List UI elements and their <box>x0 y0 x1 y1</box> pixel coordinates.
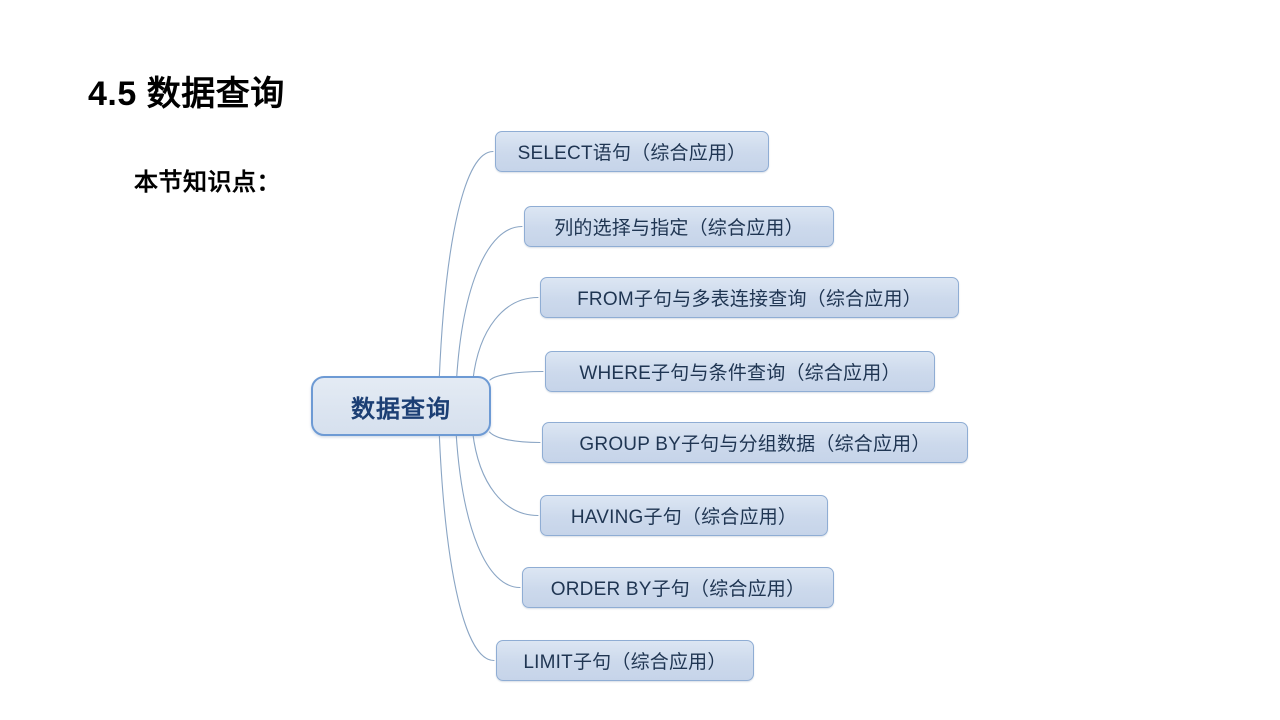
mindmap-branch-label: WHERE子句与条件查询（综合应用） <box>579 358 900 385</box>
mindmap-center-node[interactable]: 数据查询 <box>311 376 491 436</box>
mindmap-branch-node[interactable]: GROUP BY子句与分组数据（综合应用） <box>542 422 968 463</box>
mindmap-branch-node[interactable]: HAVING子句（综合应用） <box>540 495 828 536</box>
mindmap-branch-label: 列的选择与指定（综合应用） <box>554 213 804 240</box>
mindmap-connector <box>490 372 543 381</box>
mindmap-branch-label: FROM子句与多表连接查询（综合应用） <box>577 284 922 311</box>
mindmap-branch-node[interactable]: LIMIT子句（综合应用） <box>496 640 754 681</box>
slide-canvas: 4.5 数据查询 本节知识点： 数据查询 SELECT语句（综合应用）列的选择与… <box>0 0 1280 720</box>
mindmap-branch-node[interactable]: ORDER BY子句（综合应用） <box>522 567 834 608</box>
mindmap-branch-label: ORDER BY子句（综合应用） <box>551 574 805 601</box>
mindmap-connector <box>456 432 520 588</box>
mindmap-connector <box>473 298 538 381</box>
mindmap-connector <box>490 432 541 443</box>
mindmap-diagram: 数据查询 SELECT语句（综合应用）列的选择与指定（综合应用）FROM子句与多… <box>0 0 1280 720</box>
mindmap-branch-node[interactable]: 列的选择与指定（综合应用） <box>524 206 834 247</box>
mindmap-branch-node[interactable]: WHERE子句与条件查询（综合应用） <box>545 351 935 392</box>
mindmap-branch-label: HAVING子句（综合应用） <box>571 502 797 529</box>
mindmap-branch-label: GROUP BY子句与分组数据（综合应用） <box>579 429 930 456</box>
mindmap-branch-node[interactable]: SELECT语句（综合应用） <box>495 131 769 172</box>
mindmap-center-label: 数据查询 <box>351 389 451 424</box>
mindmap-branch-label: LIMIT子句（综合应用） <box>523 647 726 674</box>
mindmap-connector <box>473 432 538 516</box>
mindmap-connector <box>457 227 523 381</box>
mindmap-connector <box>439 432 494 661</box>
mindmap-branch-label: SELECT语句（综合应用） <box>518 138 747 165</box>
mindmap-branch-node[interactable]: FROM子句与多表连接查询（综合应用） <box>540 277 959 318</box>
mindmap-connector <box>439 152 493 381</box>
